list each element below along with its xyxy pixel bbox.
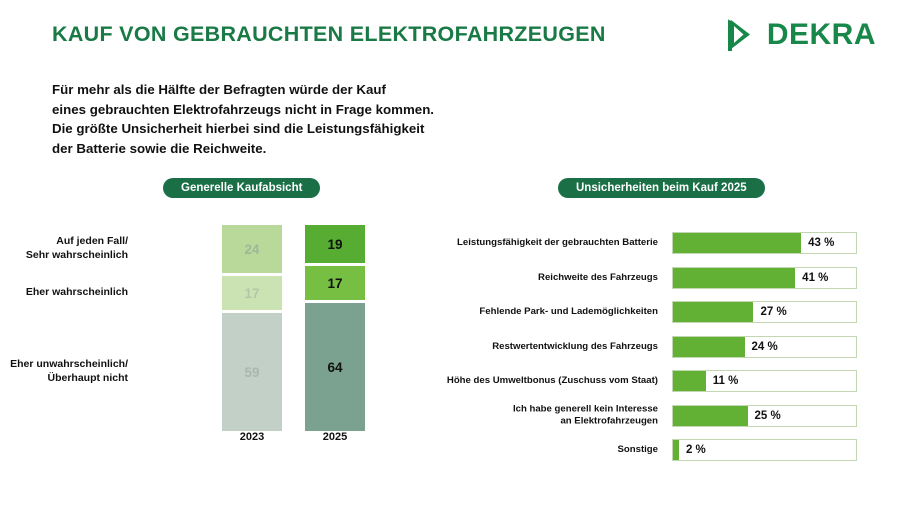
bar-value-label: 41 % [802,272,828,284]
bar-value-label: 11 % [713,375,739,387]
stack-segment: 64 [305,303,365,431]
page-title: KAUF VON GEBRAUCHTEN ELEKTROFAHRZEUGEN [52,22,606,47]
bar-track: 41 % [672,267,857,289]
bar-fill [673,406,748,426]
bar-category-label: Ich habe generell kein Interesse an Elek… [440,403,658,428]
dekra-arrow-icon [722,17,758,53]
year-label-2023: 2023 [222,431,282,443]
bar-row: Reichweite des Fahrzeugs41 % [440,267,870,289]
horizontal-bar-chart: Leistungsfähigkeit der gebrauchten Batte… [440,232,870,482]
bar-category-label: Restwertentwicklung des Fahrzeugs [440,340,658,352]
stack-series-label: Eher unwahrscheinlich/ Überhaupt nicht [0,358,128,386]
bar-track: 43 % [672,232,857,254]
stack-segment: 17 [222,276,282,310]
bar-row: Leistungsfähigkeit der gebrauchten Batte… [440,232,870,254]
subtitle-text: Für mehr als die Hälfte der Befragten wü… [52,80,482,159]
bar-track: 2 % [672,439,857,461]
dekra-wordmark: DEKRA [767,20,876,50]
bar-fill [673,337,745,357]
bar-fill [673,371,706,391]
bar-value-label: 43 % [808,237,834,249]
bar-value-label: 25 % [755,410,781,422]
bar-fill [673,268,795,288]
bar-value-label: 2 % [686,444,706,456]
bar-fill [673,233,801,253]
bar-track: 25 % [672,405,857,427]
bar-category-label: Leistungsfähigkeit der gebrauchten Batte… [440,237,658,249]
bar-fill [673,440,679,460]
infographic-page: KAUF VON GEBRAUCHTEN ELEKTROFAHRZEUGEN D… [0,0,900,507]
stack-segment: 24 [222,225,282,273]
year-label-2025: 2025 [305,431,365,443]
bar-track: 24 % [672,336,857,358]
dekra-logo: DEKRA [722,17,876,53]
bar-value-label: 24 % [752,341,778,353]
bar-row: Ich habe generell kein Interesse an Elek… [440,405,870,427]
bar-row: Fehlende Park- und Lademöglichkeiten27 % [440,301,870,323]
stack-segment: 17 [305,266,365,300]
stacked-column-chart: 24175920231917642025Auf jeden Fall/ Sehr… [40,225,340,455]
stack-series-label: Eher wahrscheinlich [0,286,128,300]
bar-track: 27 % [672,301,857,323]
bar-category-label: Sonstige [440,444,658,456]
stack-series-label: Auf jeden Fall/ Sehr wahrscheinlich [0,235,128,263]
bar-row: Sonstige2 % [440,439,870,461]
bar-track: 11 % [672,370,857,392]
bar-category-label: Reichweite des Fahrzeugs [440,271,658,283]
section-pill-unsicherheiten: Unsicherheiten beim Kauf 2025 [558,178,765,198]
stack-segment: 19 [305,225,365,263]
stack-segment: 59 [222,313,282,431]
bar-row: Höhe des Umweltbonus (Zuschuss vom Staat… [440,370,870,392]
bar-fill [673,302,753,322]
bar-value-label: 27 % [760,306,786,318]
section-pill-kaufabsicht: Generelle Kaufabsicht [163,178,320,198]
bar-category-label: Höhe des Umweltbonus (Zuschuss vom Staat… [440,375,658,387]
bar-row: Restwertentwicklung des Fahrzeugs24 % [440,336,870,358]
bar-category-label: Fehlende Park- und Lademöglichkeiten [440,306,658,318]
